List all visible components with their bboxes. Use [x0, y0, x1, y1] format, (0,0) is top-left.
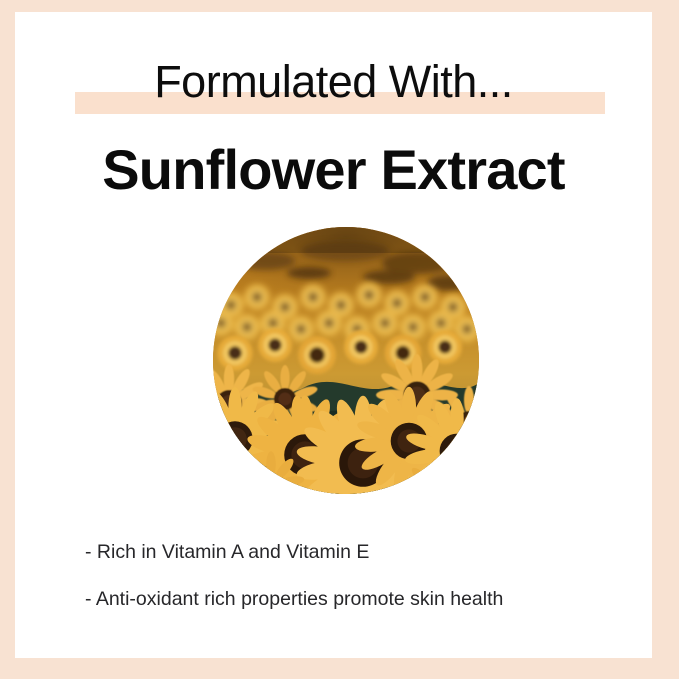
- sunflower-field-illustration: [213, 227, 479, 494]
- foreground-flowers: [213, 387, 479, 494]
- product-feature-card: Formulated With... Sunflower Extract: [0, 0, 679, 679]
- eyebrow-title: Formulated With...: [15, 54, 652, 110]
- sunflower-field-image: [213, 227, 479, 494]
- photo-vignette: [213, 227, 479, 253]
- list-item: - Anti-oxidant rich properties promote s…: [85, 586, 645, 612]
- benefits-list: - Rich in Vitamin A and Vitamin E - Anti…: [85, 539, 645, 612]
- card-inner-surface: Formulated With... Sunflower Extract: [15, 12, 652, 658]
- page-title: Sunflower Extract: [15, 137, 652, 203]
- list-item: - Rich in Vitamin A and Vitamin E: [85, 539, 645, 565]
